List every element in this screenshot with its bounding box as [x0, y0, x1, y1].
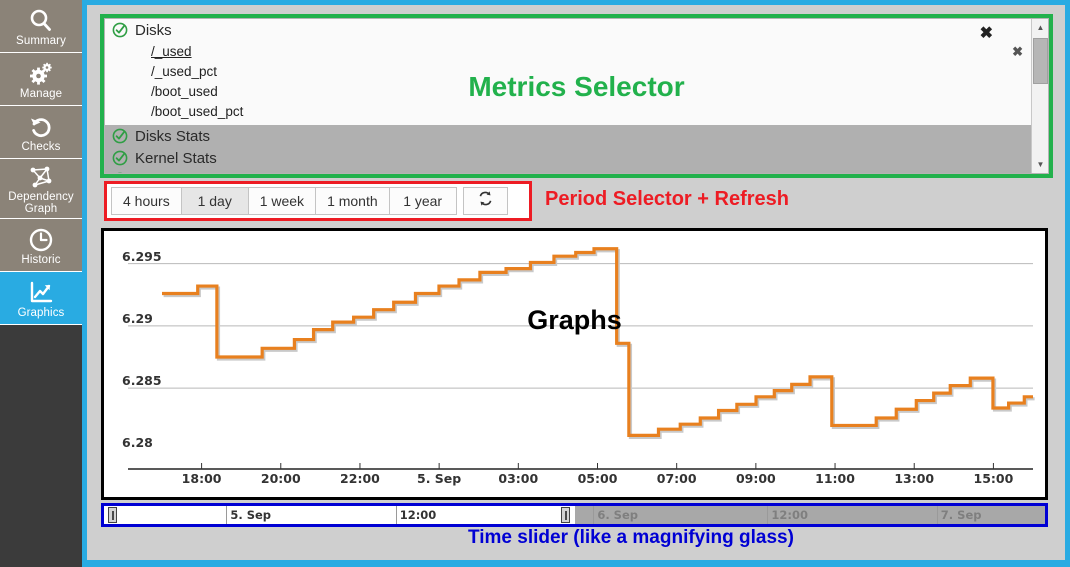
network-graph-icon: [28, 164, 54, 190]
time-slider-tick-label: 6. Sep: [597, 508, 638, 522]
y-axis-tick-label: 6.28: [122, 435, 153, 450]
check-circle-icon: [112, 150, 128, 166]
metrics-group-label: Kernel Stats: [135, 150, 217, 167]
metrics-selector: Disks /_used /_used_pct /boot_used /boot…: [100, 14, 1053, 178]
sidebar: Summary: [0, 0, 82, 567]
metrics-selector-list[interactable]: Disks /_used /_used_pct /boot_used /boot…: [104, 18, 1049, 174]
check-circle-icon: [112, 128, 128, 144]
x-axis-tick-label: 20:00: [261, 471, 301, 486]
sidebar-item-label: Dependency Graph: [8, 191, 74, 215]
scroll-up-icon[interactable]: ▲: [1032, 19, 1049, 36]
time-slider-divider: [593, 506, 594, 524]
x-axis-tick-label: 11:00: [815, 471, 855, 486]
x-axis-tick-label: 05:00: [578, 471, 618, 486]
x-axis-tick-label: 07:00: [657, 471, 697, 486]
check-circle-icon: [112, 22, 128, 38]
x-axis-tick-label: 22:00: [340, 471, 380, 486]
period-button-1-week[interactable]: 1 week: [248, 187, 316, 215]
magnifier-icon: [28, 8, 54, 34]
metrics-group-disks-stats[interactable]: Disks Stats: [105, 125, 1048, 147]
period-button-1-year[interactable]: 1 year: [389, 187, 457, 215]
period-button-4-hours[interactable]: 4 hours: [111, 187, 182, 215]
time-slider-left-handle[interactable]: [108, 507, 117, 523]
y-axis-tick-label: 6.285: [122, 373, 162, 388]
sidebar-item-label: Checks: [22, 141, 61, 153]
refresh-button[interactable]: [463, 187, 508, 215]
x-axis-tick-label: 03:00: [498, 471, 538, 486]
period-selector: 4 hours 1 day 1 week 1 month 1 year: [104, 181, 532, 221]
metrics-group-load-average[interactable]: Load Average: [105, 169, 1048, 174]
graph-plot-area[interactable]: 6.286.2856.296.29518:0020:0022:005. Sep0…: [104, 231, 1045, 497]
line-chart-icon: [28, 280, 54, 306]
x-axis-tick-label: 09:00: [736, 471, 776, 486]
metrics-group-label: Disks: [135, 22, 172, 39]
clock-icon: [28, 227, 54, 253]
time-slider-divider: [767, 506, 768, 524]
metrics-item-boot-used-pct[interactable]: /boot_used_pct: [105, 101, 1048, 121]
period-button-1-day[interactable]: 1 day: [181, 187, 249, 215]
metrics-item-label: /boot_used_pct: [151, 104, 243, 119]
sidebar-item-summary[interactable]: Summary: [0, 0, 82, 53]
metrics-scrollbar[interactable]: ▲ ▼: [1031, 19, 1048, 173]
x-axis-tick-label: 18:00: [182, 471, 222, 486]
time-slider-divider: [226, 506, 227, 524]
time-slider-divider: [937, 506, 938, 524]
sidebar-item-label: Manage: [20, 88, 62, 100]
time-slider-tick-label: 12:00: [400, 508, 437, 522]
gears-icon: [28, 61, 54, 87]
graph-panel: 6.286.2856.296.29518:0020:0022:005. Sep0…: [101, 228, 1048, 500]
metrics-item-used-pct[interactable]: /_used_pct: [105, 61, 1048, 81]
metrics-group-disks[interactable]: Disks: [105, 19, 1048, 41]
remove-metric-icon[interactable]: ✖: [1012, 45, 1023, 58]
metrics-group-kernel-stats[interactable]: Kernel Stats: [105, 147, 1048, 169]
y-axis-tick-label: 6.295: [122, 249, 162, 264]
sidebar-item-checks[interactable]: Checks: [0, 106, 82, 159]
check-circle-icon: [112, 172, 128, 174]
y-axis-tick-label: 6.29: [122, 311, 153, 326]
sidebar-item-graphics[interactable]: Graphics: [0, 272, 82, 325]
sidebar-item-manage[interactable]: Manage: [0, 53, 82, 106]
metrics-item-label: /_used: [151, 44, 192, 59]
sidebar-item-label: Summary: [16, 35, 66, 47]
period-selector-annotation: Period Selector + Refresh: [545, 188, 789, 211]
metrics-item-used[interactable]: /_used: [105, 41, 1048, 61]
x-axis-tick-label: 13:00: [894, 471, 934, 486]
sidebar-item-dependency-graph[interactable]: Dependency Graph: [0, 159, 82, 219]
metrics-group-label: Disks Stats: [135, 128, 210, 145]
sidebar-item-historic[interactable]: Historic: [0, 219, 82, 272]
x-axis-tick-label: 5. Sep: [417, 471, 461, 486]
time-slider-tick-label: 7. Sep: [941, 508, 982, 522]
period-button-1-month[interactable]: 1 month: [315, 187, 390, 215]
undo-arrow-icon: [28, 114, 54, 140]
scrollbar-thumb[interactable]: [1033, 38, 1048, 84]
metrics-item-label: /_used_pct: [151, 64, 217, 79]
time-slider-tick-label: 12:00: [771, 508, 808, 522]
time-slider-annotation: Time slider (like a magnifying glass): [468, 527, 794, 549]
metrics-item-boot-used[interactable]: /boot_used: [105, 81, 1048, 101]
scroll-down-icon[interactable]: ▼: [1032, 156, 1049, 173]
time-slider-track[interactable]: 5. Sep12:006. Sep12:007. Sep: [104, 506, 1045, 524]
time-slider[interactable]: 5. Sep12:006. Sep12:007. Sep: [101, 503, 1048, 527]
metrics-group-label: Load Average: [135, 172, 227, 175]
x-axis-tick-label: 15:00: [974, 471, 1014, 486]
time-slider-tick-label: 5. Sep: [230, 508, 271, 522]
metrics-item-label: /boot_used: [151, 84, 218, 99]
time-slider-divider: [396, 506, 397, 524]
sidebar-item-label: Graphics: [18, 307, 65, 319]
time-slider-right-handle[interactable]: [561, 507, 570, 523]
sidebar-item-label: Historic: [21, 254, 60, 266]
close-icon[interactable]: ✖: [980, 26, 993, 42]
refresh-icon: [477, 190, 494, 212]
